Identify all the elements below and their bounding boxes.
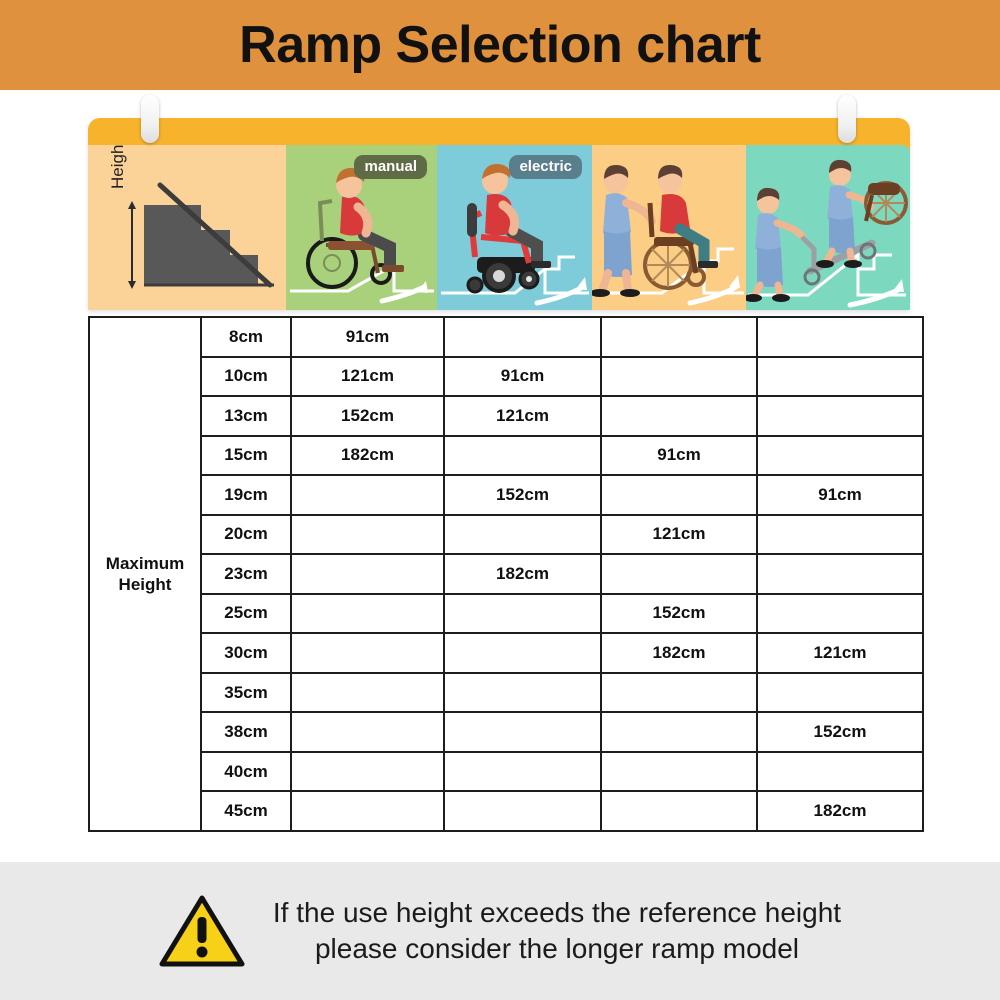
cell-manual: 91cm	[291, 317, 444, 357]
footer-line-2: please consider the longer ramp model	[273, 931, 841, 967]
cell-attendant: 91cm	[601, 436, 757, 476]
cell-attendant	[601, 673, 757, 713]
height-cell: 20cm	[201, 515, 291, 555]
cell-cart	[757, 554, 923, 594]
height-cell: 15cm	[201, 436, 291, 476]
cell-attendant: 182cm	[601, 633, 757, 673]
cell-electric	[444, 515, 601, 555]
cell-electric	[444, 594, 601, 634]
cell-cart	[757, 436, 923, 476]
table-row: 19cm 152cm 91cm	[89, 475, 923, 515]
cell-manual	[291, 515, 444, 555]
height-cell: 40cm	[201, 752, 291, 792]
cell-manual	[291, 475, 444, 515]
panel-attendant	[592, 145, 746, 310]
table-row: 30cm 182cm 121cm	[89, 633, 923, 673]
panel-cart	[746, 145, 910, 310]
table-row: 38cm 152cm	[89, 712, 923, 752]
cell-cart	[757, 317, 923, 357]
cell-manual	[291, 554, 444, 594]
peg-right-icon	[838, 95, 856, 143]
cart-trolley-icon	[746, 145, 910, 310]
cell-attendant	[601, 317, 757, 357]
cell-electric	[444, 752, 601, 792]
table-row: 25cm 152cm	[89, 594, 923, 634]
cell-manual: 121cm	[291, 357, 444, 397]
cell-electric	[444, 791, 601, 831]
cell-manual	[291, 633, 444, 673]
height-cell: 35cm	[201, 673, 291, 713]
cell-electric: 91cm	[444, 357, 601, 397]
cell-cart	[757, 673, 923, 713]
peg-left-icon	[141, 95, 159, 143]
cell-attendant: 152cm	[601, 594, 757, 634]
attendant-pushed-wheelchair-icon	[592, 145, 746, 310]
height-cell: 38cm	[201, 712, 291, 752]
cell-attendant	[601, 357, 757, 397]
height-cell: 19cm	[201, 475, 291, 515]
panel-electric: electric	[437, 145, 592, 310]
ramp-table: Maximum Height 8cm 91cm 10cm 121cm 91cm …	[88, 316, 924, 832]
header-panels: Height manual	[88, 145, 910, 310]
cell-manual: 182cm	[291, 436, 444, 476]
height-cell: 45cm	[201, 791, 291, 831]
warning-triangle-icon	[159, 893, 245, 969]
height-axis-label: Height	[108, 145, 128, 189]
height-cell: 13cm	[201, 396, 291, 436]
height-cell: 8cm	[201, 317, 291, 357]
footer-note: If the use height exceeds the reference …	[0, 862, 1000, 1000]
cell-attendant	[601, 475, 757, 515]
cell-manual	[291, 594, 444, 634]
cell-attendant	[601, 712, 757, 752]
table-row: 20cm 121cm	[89, 515, 923, 555]
table-row: Maximum Height 8cm 91cm	[89, 317, 923, 357]
cell-electric	[444, 712, 601, 752]
cell-cart	[757, 752, 923, 792]
cell-manual	[291, 752, 444, 792]
height-cell: 30cm	[201, 633, 291, 673]
cell-electric	[444, 673, 601, 713]
cell-manual	[291, 791, 444, 831]
cell-attendant	[601, 396, 757, 436]
cell-cart	[757, 357, 923, 397]
cell-electric: 182cm	[444, 554, 601, 594]
table-row: 15cm 182cm 91cm	[89, 436, 923, 476]
cell-cart: 91cm	[757, 475, 923, 515]
cell-electric: 121cm	[444, 396, 601, 436]
cell-cart: 182cm	[757, 791, 923, 831]
table-row: 40cm	[89, 752, 923, 792]
panel-diagram: Height	[88, 145, 286, 310]
height-cell: 23cm	[201, 554, 291, 594]
table-row: 10cm 121cm 91cm	[89, 357, 923, 397]
cell-electric	[444, 436, 601, 476]
cell-attendant	[601, 554, 757, 594]
table-row: 23cm 182cm	[89, 554, 923, 594]
row-label-maximum-height: Maximum Height	[89, 317, 201, 831]
footer-text: If the use height exceeds the reference …	[273, 895, 841, 967]
height-cell: 10cm	[201, 357, 291, 397]
panel-manual: manual	[286, 145, 437, 310]
cell-electric: 152cm	[444, 475, 601, 515]
badge-electric: electric	[509, 155, 582, 179]
cell-cart: 152cm	[757, 712, 923, 752]
table-row: 45cm 182cm	[89, 791, 923, 831]
cell-cart	[757, 515, 923, 555]
table-row: 35cm	[89, 673, 923, 713]
cell-attendant	[601, 752, 757, 792]
cell-manual	[291, 673, 444, 713]
cell-cart: 121cm	[757, 633, 923, 673]
table-row: 13cm 152cm 121cm	[89, 396, 923, 436]
cell-electric	[444, 317, 601, 357]
cell-electric	[444, 633, 601, 673]
cell-attendant	[601, 791, 757, 831]
cell-cart	[757, 594, 923, 634]
page-title: Ramp Selection chart	[239, 15, 761, 75]
footer-line-1: If the use height exceeds the reference …	[273, 895, 841, 931]
cell-cart	[757, 396, 923, 436]
chart-board-area: Height manual	[0, 90, 1000, 860]
cell-manual: 152cm	[291, 396, 444, 436]
cell-attendant: 121cm	[601, 515, 757, 555]
badge-manual: manual	[354, 155, 427, 179]
height-cell: 25cm	[201, 594, 291, 634]
title-band: Ramp Selection chart	[0, 0, 1000, 90]
ramp-selection-table: Maximum Height 8cm 91cm 10cm 121cm 91cm …	[88, 316, 910, 832]
cell-manual	[291, 712, 444, 752]
